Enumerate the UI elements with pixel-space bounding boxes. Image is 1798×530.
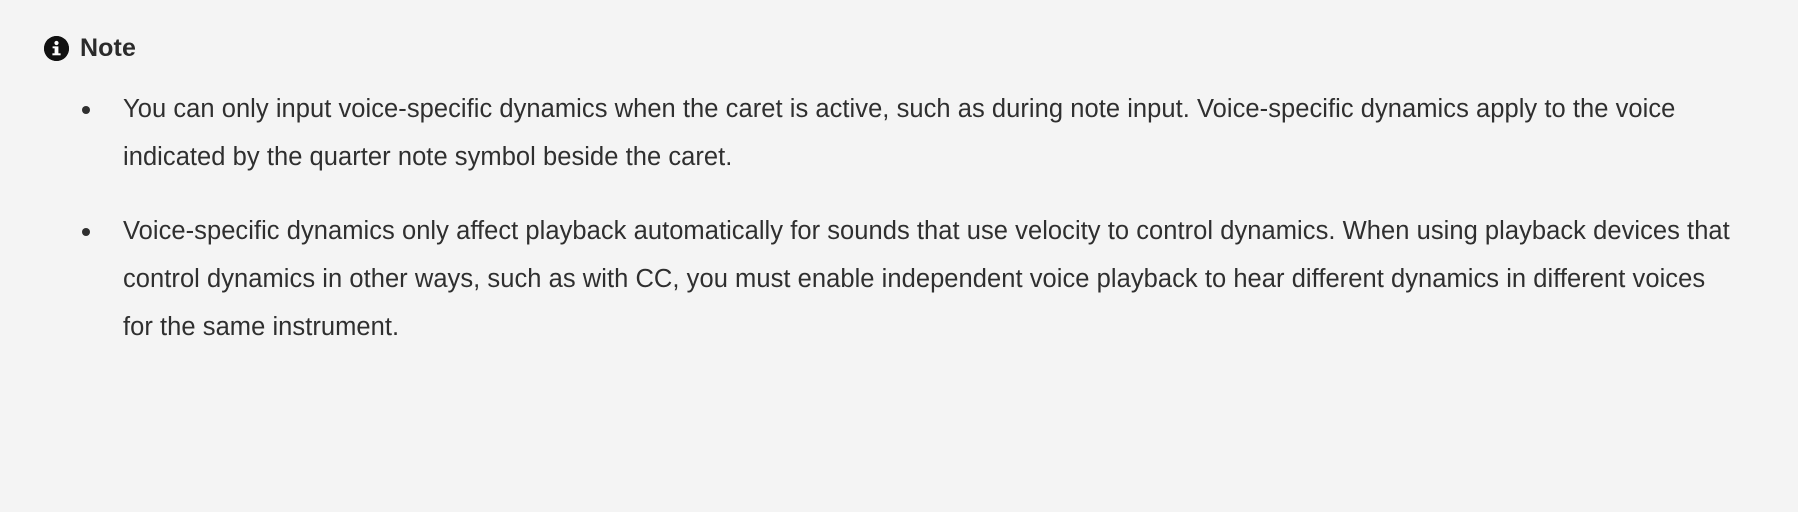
note-list: You can only input voice-specific dynami… <box>40 85 1758 351</box>
list-item: Voice-specific dynamics only affect play… <box>40 207 1733 351</box>
bullet-icon <box>82 228 90 236</box>
info-icon <box>44 36 69 61</box>
note-title: Note <box>80 36 136 61</box>
list-item-text: You can only input voice-specific dynami… <box>123 95 1675 171</box>
bullet-icon <box>82 106 90 114</box>
note-callout: Note You can only input voice-specific d… <box>0 0 1798 512</box>
list-item: You can only input voice-specific dynami… <box>40 85 1733 181</box>
list-item-text: Voice-specific dynamics only affect play… <box>123 217 1730 341</box>
note-header: Note <box>44 33 1758 63</box>
